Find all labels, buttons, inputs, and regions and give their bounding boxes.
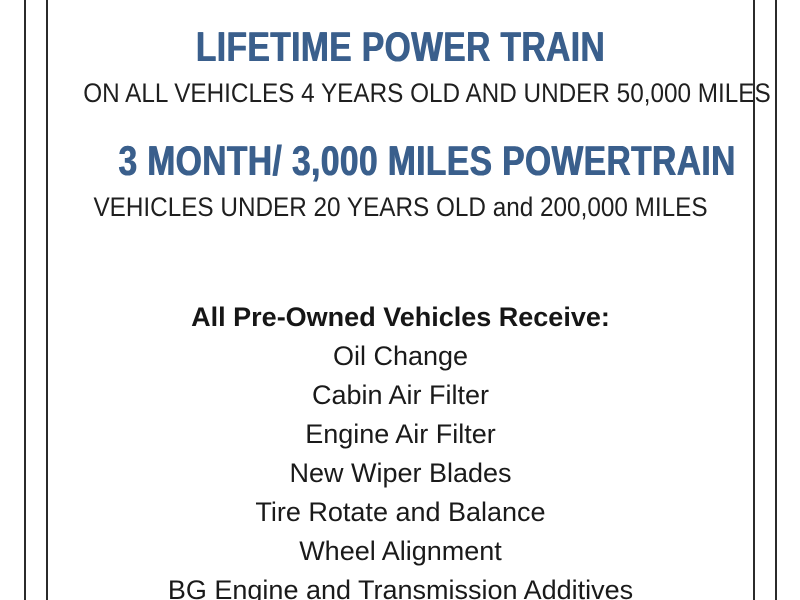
flyer-page: LIFETIME POWER TRAIN ON ALL VEHICLES 4 Y… (0, 0, 800, 600)
service-list-item: Cabin Air Filter (48, 376, 753, 415)
warranty-block-lifetime-powertrain: LIFETIME POWER TRAIN ON ALL VEHICLES 4 Y… (48, 26, 753, 107)
service-list-item: Engine Air Filter (48, 415, 753, 454)
services-section: All Pre-Owned Vehicles Receive: Oil Chan… (48, 298, 753, 600)
service-list-item: Tire Rotate and Balance (48, 493, 753, 532)
lifetime-powertrain-subtitle: ON ALL VEHICLES 4 YEARS OLD AND UNDER 50… (83, 80, 718, 107)
page-border-rule-right-outer (775, 0, 777, 600)
three-month-powertrain-heading: 3 MONTH/ 3,000 MILES POWERTRAIN (119, 140, 683, 182)
three-month-powertrain-subtitle: VEHICLES UNDER 20 YEARS OLD and 200,000 … (83, 194, 718, 221)
lifetime-powertrain-heading: LIFETIME POWER TRAIN (119, 26, 683, 68)
service-list-item: Wheel Alignment (48, 532, 753, 571)
flyer-content: LIFETIME POWER TRAIN ON ALL VEHICLES 4 Y… (48, 0, 753, 600)
service-list-item: Oil Change (48, 337, 753, 376)
service-list-item: New Wiper Blades (48, 454, 753, 493)
services-section-title: All Pre-Owned Vehicles Receive: (48, 298, 753, 337)
page-border-rule-left-outer (24, 0, 26, 600)
service-list-item: BG Engine and Transmission Additives (48, 571, 753, 600)
warranty-block-3month-powertrain: 3 MONTH/ 3,000 MILES POWERTRAIN VEHICLES… (48, 140, 753, 221)
